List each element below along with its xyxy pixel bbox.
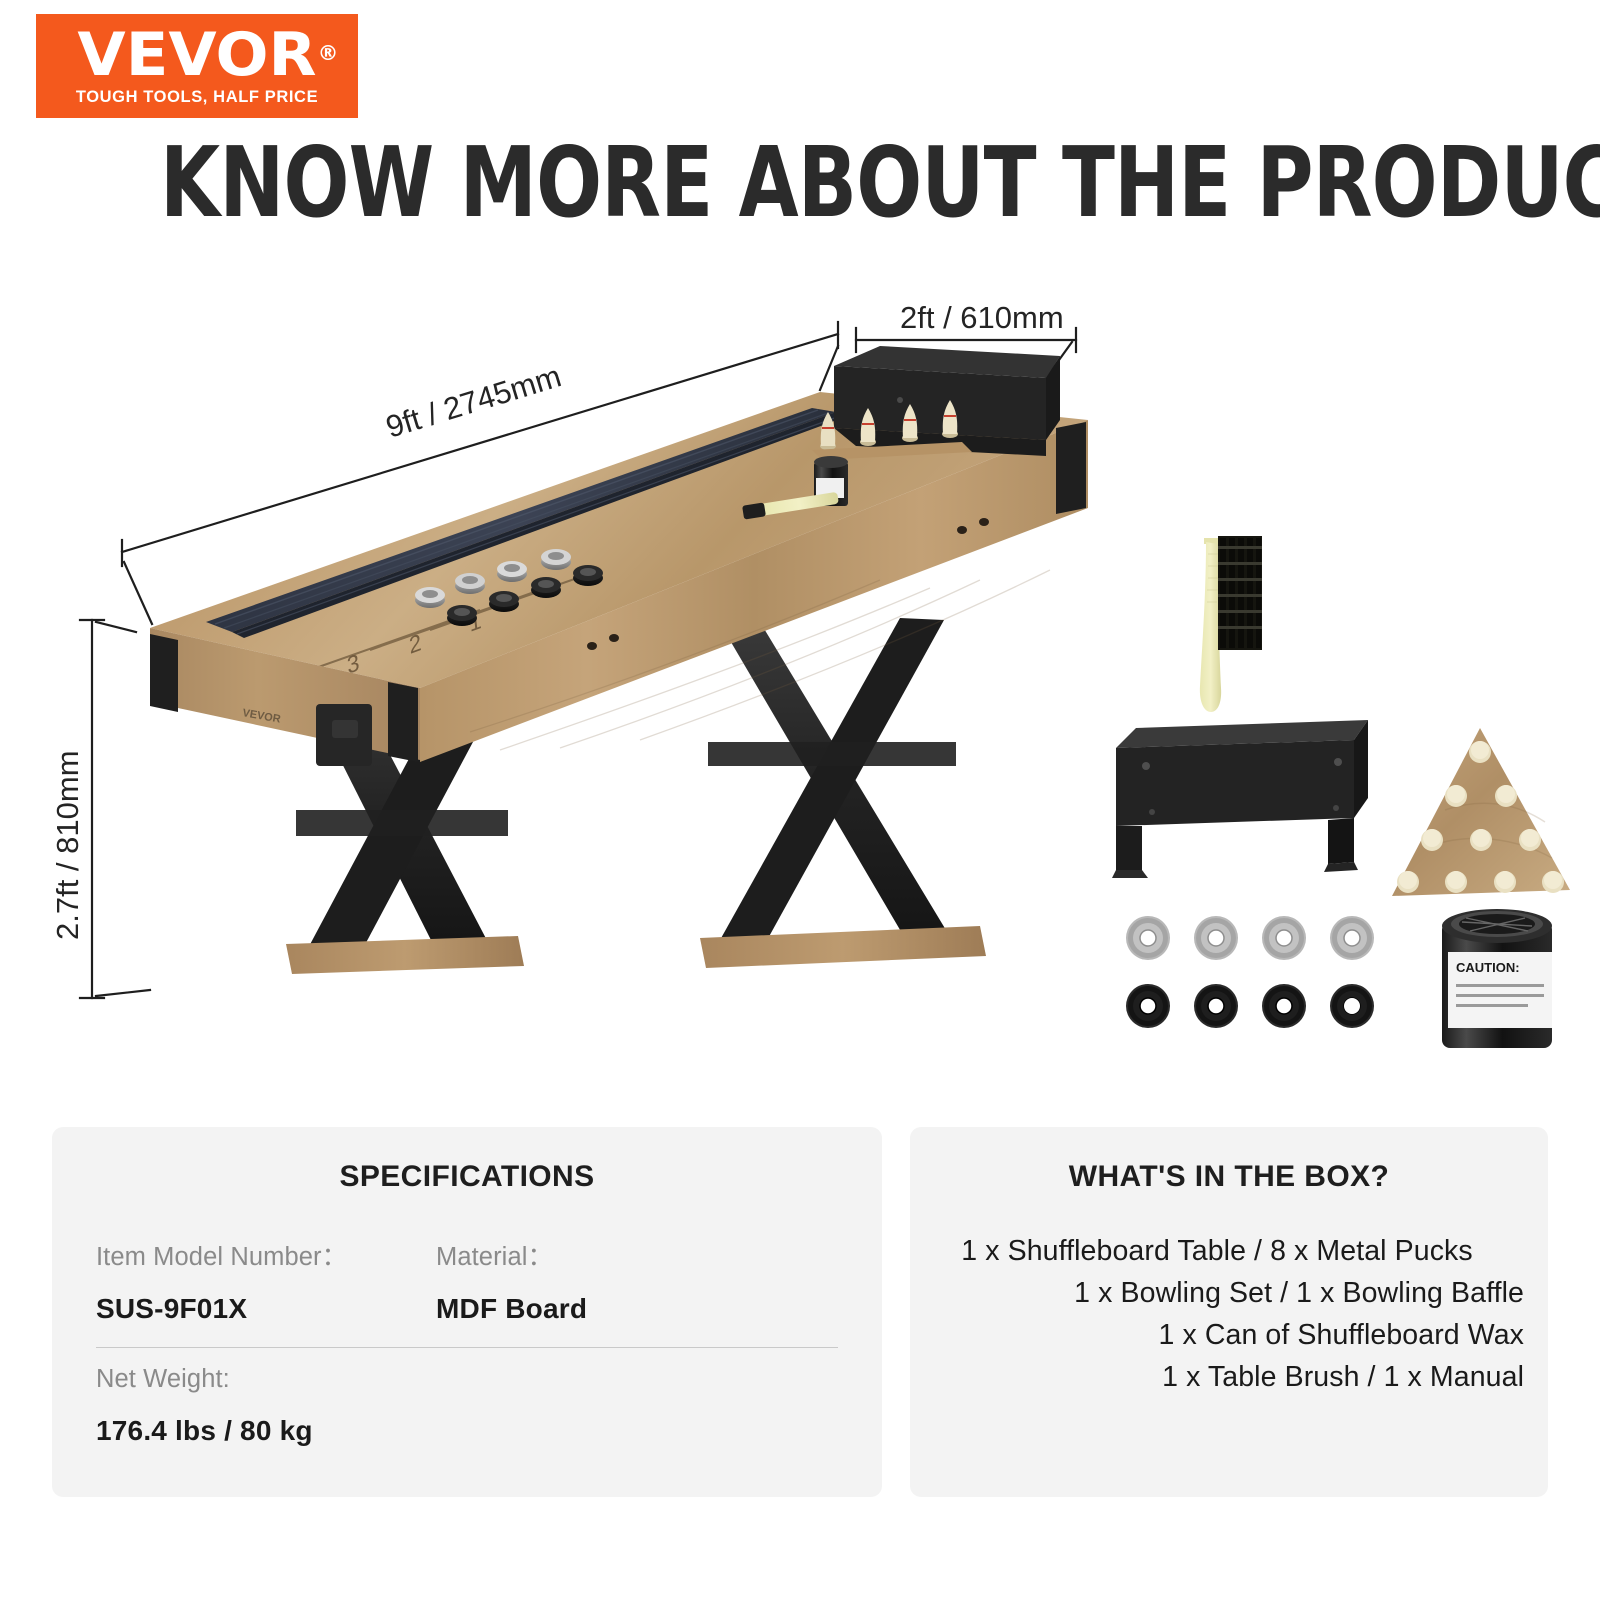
specifications-title: SPECIFICATIONS	[52, 1160, 882, 1194]
brand-name: VEVOR	[77, 20, 316, 90]
net-weight-block: Net Weight: 176.4 lbs / 80 kg	[96, 1364, 882, 1448]
table-leg-far	[700, 618, 986, 968]
dimension-label-width: 2ft / 610mm	[900, 300, 1064, 335]
page-title: KNOW MORE ABOUT THE PRODUCT	[160, 133, 1440, 233]
box-contents-item: 1 x Bowling Set / 1 x Bowling Baffle	[910, 1272, 1524, 1314]
accessory-bowling-pin-rack	[1392, 728, 1570, 896]
specifications-grid: Item Model Number： SUS-9F01X Material： M…	[96, 1242, 882, 1326]
specifications-panel: SPECIFICATIONS Item Model Number： SUS-9F…	[52, 1127, 882, 1497]
net-weight-value: 176.4 lbs / 80 kg	[96, 1414, 882, 1448]
whats-in-the-box-panel: WHAT'S IN THE BOX? 1 x Shuffleboard Tabl…	[910, 1127, 1548, 1497]
registered-trademark-icon: ®	[318, 24, 339, 82]
vevor-logo: VEVOR ® TOUGH TOOLS, HALF PRICE	[36, 14, 358, 118]
material-value: MDF Board	[436, 1292, 882, 1326]
brand-wordmark: VEVOR ®	[77, 26, 316, 84]
box-contents-list: 1 x Shuffleboard Table / 8 x Metal Pucks…	[910, 1230, 1548, 1398]
net-weight-label: Net Weight:	[96, 1364, 882, 1394]
wax-can-caution-label: CAUTION:	[1456, 960, 1520, 975]
box-contents-item: 1 x Shuffleboard Table / 8 x Metal Pucks	[910, 1230, 1524, 1272]
shuffleboard-table: 3 2 1 VEVOR	[150, 346, 1088, 974]
accessory-bowling-baffle	[1112, 720, 1368, 878]
dimension-label-height: 2.7ft / 810mm	[50, 750, 85, 940]
material-label: Material：	[436, 1242, 882, 1272]
brand-tagline: TOUGH TOOLS, HALF PRICE	[76, 87, 318, 107]
box-contents-item: 1 x Can of Shuffleboard Wax	[910, 1314, 1524, 1356]
model-number-label: Item Model Number：	[96, 1242, 436, 1272]
model-number-value: SUS-9F01X	[96, 1292, 436, 1326]
accessory-table-brush	[1200, 536, 1262, 712]
product-hero-image: 9ft / 2745mm 2ft / 610mm 2.7ft / 810mm	[0, 250, 1600, 1090]
box-contents-item: 1 x Table Brush / 1 x Manual	[910, 1356, 1524, 1398]
accessory-shuffleboard-wax-can: CAUTION:	[1442, 909, 1552, 1048]
specifications-divider	[96, 1347, 838, 1348]
accessory-metal-pucks	[1126, 916, 1374, 1028]
whats-in-the-box-title: WHAT'S IN THE BOX?	[910, 1160, 1548, 1194]
dimension-label-length: 9ft / 2745mm	[382, 358, 565, 444]
